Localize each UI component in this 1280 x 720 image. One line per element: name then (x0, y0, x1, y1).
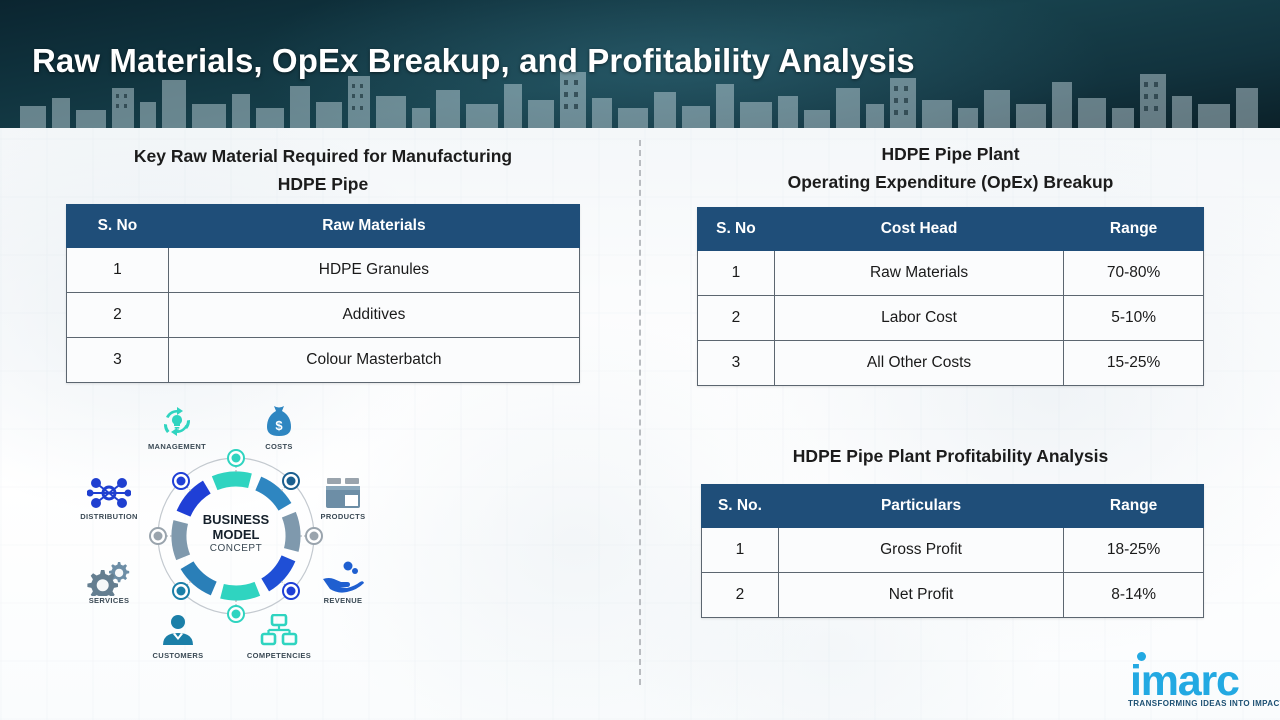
cell-sno: 2 (698, 296, 775, 341)
column-header-material: Raw Materials (168, 205, 579, 248)
column-header-range: Range (1064, 485, 1204, 528)
cell-sno: 2 (702, 573, 779, 618)
table-row: 1 Gross Profit 18-25% (702, 528, 1204, 573)
column-header-sno: S. No. (702, 485, 779, 528)
logo-tagline: TRANSFORMING IDEAS INTO IMPACT (1128, 699, 1280, 708)
cell-sno: 3 (67, 338, 169, 383)
cell-particulars: Net Profit (778, 573, 1063, 618)
cell-sno: 1 (67, 248, 169, 293)
table-row: 2 Net Profit 8-14% (702, 573, 1204, 618)
org-chart-icon (260, 614, 298, 651)
column-header-sno: S. No (698, 208, 775, 251)
cell-sno: 3 (698, 341, 775, 386)
opex-section-title: HDPE Pipe Plant Operating Expenditure (O… (697, 140, 1204, 197)
column-header-cost-head: Cost Head (774, 208, 1063, 251)
bm-label-revenue: REVENUE (324, 596, 363, 605)
table-row: 2 Additives (67, 293, 580, 338)
cell-range: 70-80% (1064, 251, 1204, 296)
table-row: 3 Colour Masterbatch (67, 338, 580, 383)
page-title: Raw Materials, OpEx Breakup, and Profita… (32, 42, 915, 80)
left-section-title-line1: Key Raw Material Required for Manufactur… (66, 142, 580, 170)
opex-section-title-line1: HDPE Pipe Plant (697, 140, 1204, 168)
header-banner: Raw Materials, OpEx Breakup, and Profita… (0, 0, 1280, 128)
bm-label-products: PRODUCTS (321, 512, 366, 521)
opex-section-title-line2: Operating Expenditure (OpEx) Breakup (697, 168, 1204, 196)
slide: Raw Materials, OpEx Breakup, and Profita… (0, 0, 1280, 720)
lightbulb-recycle-icon (159, 404, 195, 445)
cell-range: 15-25% (1064, 341, 1204, 386)
left-section-title-line2: HDPE Pipe (66, 170, 580, 198)
money-bag-icon: $ (263, 404, 295, 443)
cell-sno: 2 (67, 293, 169, 338)
business-model-diagram: BUSINESS MODEL CONCEPT MANAGEMENT $ (78, 398, 398, 676)
imarc-logo: imarc TRANSFORMING IDEAS INTO IMPACT (1118, 650, 1270, 712)
profitability-section-title-text: HDPE Pipe Plant Profitability Analysis (697, 442, 1204, 470)
cell-range: 8-14% (1064, 573, 1204, 618)
cell-sno: 1 (702, 528, 779, 573)
open-box-icon (323, 476, 363, 515)
network-nodes-icon (87, 476, 131, 515)
cell-range: 5-10% (1064, 296, 1204, 341)
table-header-row: S. No. Particulars Range (702, 485, 1204, 528)
column-header-particulars: Particulars (778, 485, 1063, 528)
user-group-icon (160, 614, 196, 651)
bm-label-services: SERVICES (89, 596, 130, 605)
cell-material: Additives (168, 293, 579, 338)
center-line2: MODEL (203, 528, 269, 543)
gears-icon (87, 560, 131, 601)
opex-breakup-table: S. No Cost Head Range 1 Raw Materials 70… (697, 207, 1204, 386)
bm-label-management: MANAGEMENT (148, 442, 206, 451)
cell-material: Colour Masterbatch (168, 338, 579, 383)
table-row: 1 HDPE Granules (67, 248, 580, 293)
cell-material: HDPE Granules (168, 248, 579, 293)
bm-label-competencies: COMPETENCIES (247, 651, 311, 660)
table-header-row: S. No Cost Head Range (698, 208, 1204, 251)
cell-cost-head: Raw Materials (774, 251, 1063, 296)
hand-coins-icon (321, 560, 365, 599)
business-model-center-label: BUSINESS MODEL CONCEPT (203, 513, 269, 554)
bm-label-customers: CUSTOMERS (153, 651, 204, 660)
profitability-section-title: HDPE Pipe Plant Profitability Analysis (697, 442, 1204, 470)
logo-wordmark: imarc (1130, 660, 1239, 703)
profitability-analysis-table: S. No. Particulars Range 1 Gross Profit … (701, 484, 1204, 618)
left-section-title: Key Raw Material Required for Manufactur… (66, 142, 580, 199)
column-header-sno: S. No (67, 205, 169, 248)
center-line3: CONCEPT (203, 543, 269, 555)
bm-label-costs: COSTS (265, 442, 293, 451)
svg-text:$: $ (275, 418, 283, 433)
table-header-row: S. No Raw Materials (67, 205, 580, 248)
raw-materials-table: S. No Raw Materials 1 HDPE Granules 2 Ad… (66, 204, 580, 383)
cell-cost-head: Labor Cost (774, 296, 1063, 341)
table-row: 2 Labor Cost 5-10% (698, 296, 1204, 341)
bm-label-distribution: DISTRIBUTION (80, 512, 138, 521)
center-line1: BUSINESS (203, 513, 269, 528)
table-row: 1 Raw Materials 70-80% (698, 251, 1204, 296)
cell-particulars: Gross Profit (778, 528, 1063, 573)
vertical-dashed-divider (639, 140, 641, 685)
cell-sno: 1 (698, 251, 775, 296)
column-header-range: Range (1064, 208, 1204, 251)
cell-range: 18-25% (1064, 528, 1204, 573)
cell-cost-head: All Other Costs (774, 341, 1063, 386)
table-row: 3 All Other Costs 15-25% (698, 341, 1204, 386)
